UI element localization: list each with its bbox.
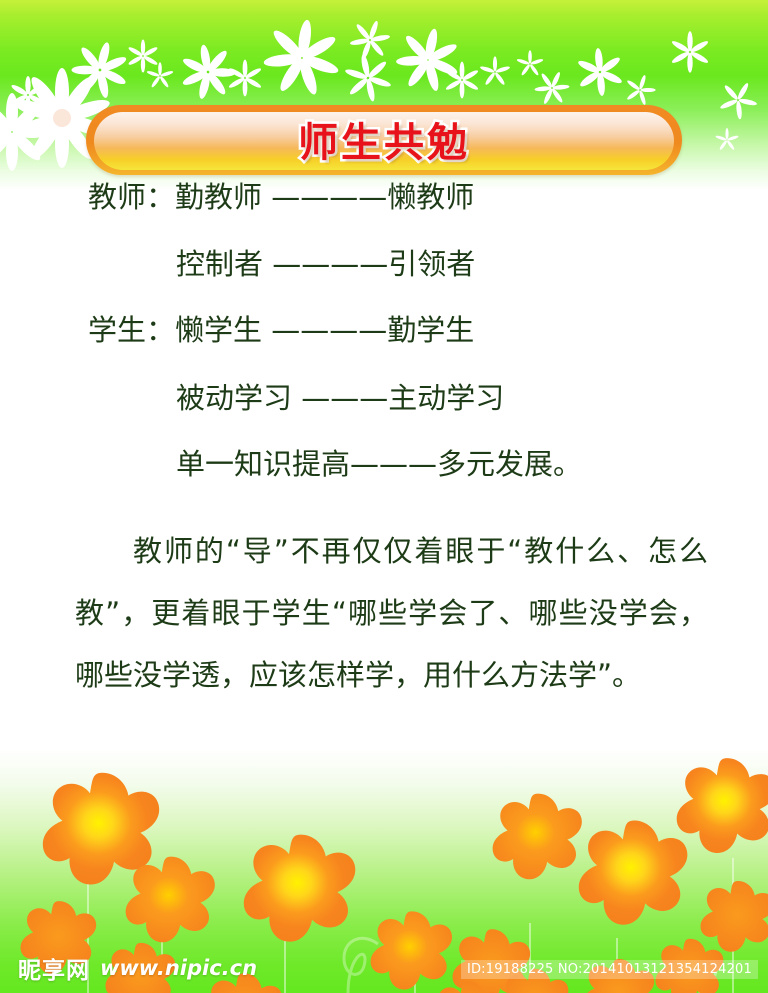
flower-icon bbox=[579, 820, 688, 924]
title-banner: 师生共勉 bbox=[86, 105, 682, 175]
contrast-line-1-left: 勤教师 bbox=[175, 180, 271, 214]
flower-icon bbox=[677, 758, 768, 853]
body-paragraph: 教师的“导”不再仅仅着眼于“教什么、怎么教”，更着眼于学生“哪些学会了、哪些没学… bbox=[75, 520, 708, 706]
flower-icon bbox=[493, 794, 582, 880]
flower-icon bbox=[371, 911, 452, 989]
page-title: 师生共勉 bbox=[86, 110, 682, 168]
flower-icon bbox=[244, 835, 355, 942]
flower-icon bbox=[126, 857, 215, 943]
contrast-line-4: 被动学习 ———主动学习 bbox=[176, 384, 768, 450]
contrast-line-4-right: 主动学习 bbox=[388, 381, 504, 415]
contrast-line-5-arrow: ——— bbox=[350, 447, 437, 481]
flower-field-icon-group bbox=[0, 748, 768, 993]
contrast-line-2: 控制者 ————引领者 bbox=[176, 250, 768, 316]
poster-canvas: 师生共勉 教师：勤教师 ————懒教师 控制者 ————引领者 学生：懒学生 —… bbox=[0, 0, 768, 993]
contrast-line-1-arrow: ———— bbox=[271, 180, 387, 214]
contrast-line-3-left: 懒学生 bbox=[175, 313, 271, 347]
contrast-line-1-right: 懒教师 bbox=[387, 180, 474, 214]
content-area: 教师：勤教师 ————懒教师 控制者 ————引领者 学生：懒学生 ————勤学… bbox=[0, 183, 768, 706]
contrast-line-2-left: 控制者 bbox=[176, 247, 272, 281]
flower-icon bbox=[105, 943, 175, 993]
contrast-line-2-arrow: ———— bbox=[272, 247, 388, 281]
flower-icon bbox=[21, 901, 97, 974]
flower-icon bbox=[701, 881, 768, 952]
contrast-line-5-left: 单一知识提高 bbox=[176, 447, 350, 481]
contrast-line-5: 单一知识提高———多元发展。 bbox=[176, 450, 768, 510]
flower-icon bbox=[205, 973, 283, 993]
contrast-line-2-right: 引领者 bbox=[388, 247, 475, 281]
contrast-line-3-arrow: ———— bbox=[271, 313, 387, 347]
contrast-line-1: 教师：勤教师 ————懒教师 bbox=[88, 183, 768, 250]
contrast-line-3: 学生：懒学生 ————勤学生 bbox=[88, 316, 768, 384]
bottom-flower-decoration bbox=[0, 748, 768, 993]
contrast-line-3-prefix: 学生： bbox=[88, 313, 175, 347]
contrast-line-3-right: 勤学生 bbox=[387, 313, 474, 347]
contrast-line-5-right: 多元发展。 bbox=[437, 447, 582, 481]
image-id-tag: ID:19188225 NO:20141013121354124201 bbox=[461, 960, 758, 979]
contrast-line-4-arrow: ——— bbox=[301, 381, 388, 415]
contrast-line-4-left: 被动学习 bbox=[176, 381, 301, 415]
contrast-line-1-prefix: 教师： bbox=[88, 180, 175, 214]
